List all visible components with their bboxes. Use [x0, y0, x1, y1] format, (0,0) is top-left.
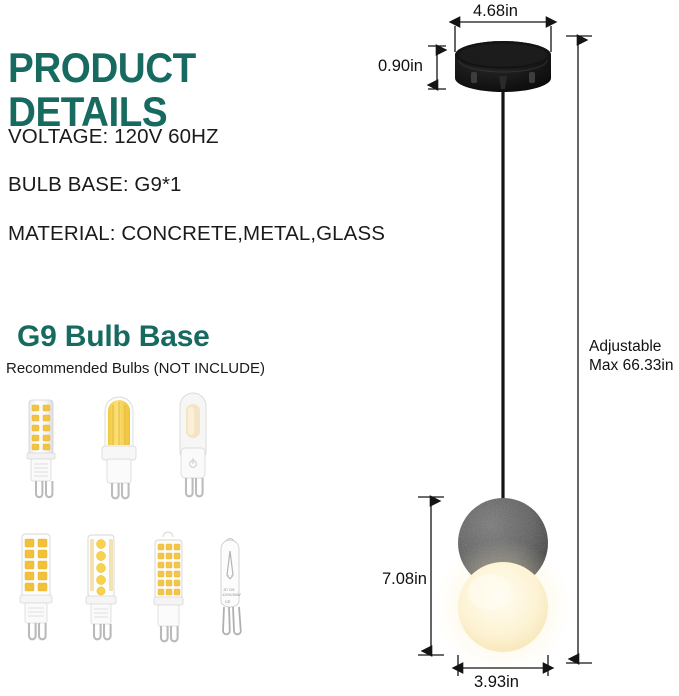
g9-halogen-capsule-icon: JC G9 120V/40W CE [207, 535, 253, 645]
bulb-base-heading: G9 Bulb Base [17, 320, 210, 354]
g9-led-dense-smd-icon [145, 535, 193, 645]
dimension-canopy-width [455, 22, 551, 52]
ceiling-canopy [455, 41, 551, 92]
spec-voltage: VOLTAGE: 120V 60HZ [8, 125, 438, 149]
halogen-print-line2: 120V/40W [222, 592, 241, 597]
spec-material: MATERIAL: CONCRETE,METAL,GLASS [8, 222, 438, 246]
dimension-label-globe-width: 3.93in [474, 673, 519, 692]
adjustable-line-2: Max 66.33in [589, 356, 673, 375]
dimension-label-adjustable-max: Adjustable Max 66.33in [589, 337, 673, 375]
concrete-ball-shade [458, 498, 548, 588]
g9-led-cob-cylinder-icon [92, 393, 146, 503]
dimension-label-body-height: 7.08in [382, 570, 427, 589]
dimension-label-canopy-width: 4.68in [473, 2, 518, 21]
g9-led-smd-clear-icon [18, 398, 64, 502]
halogen-print-ce-mark: CE [225, 599, 231, 604]
recommended-bulbs-note: Recommended Bulbs (NOT INCLUDE) [6, 360, 265, 377]
adjustable-line-1: Adjustable [589, 337, 673, 356]
spec-bulb-base: BULB BASE: G9*1 [8, 173, 438, 197]
dimension-label-canopy-height: 0.90in [378, 57, 423, 76]
g9-led-round-chip-icon [78, 533, 126, 643]
dimension-canopy-height [428, 46, 446, 89]
glass-globe [435, 539, 571, 675]
g9-led-frosted-capsule-icon [167, 392, 219, 504]
g9-led-smd-warm-icon [12, 532, 62, 644]
page-title: PRODUCT DETAILS [8, 46, 321, 134]
